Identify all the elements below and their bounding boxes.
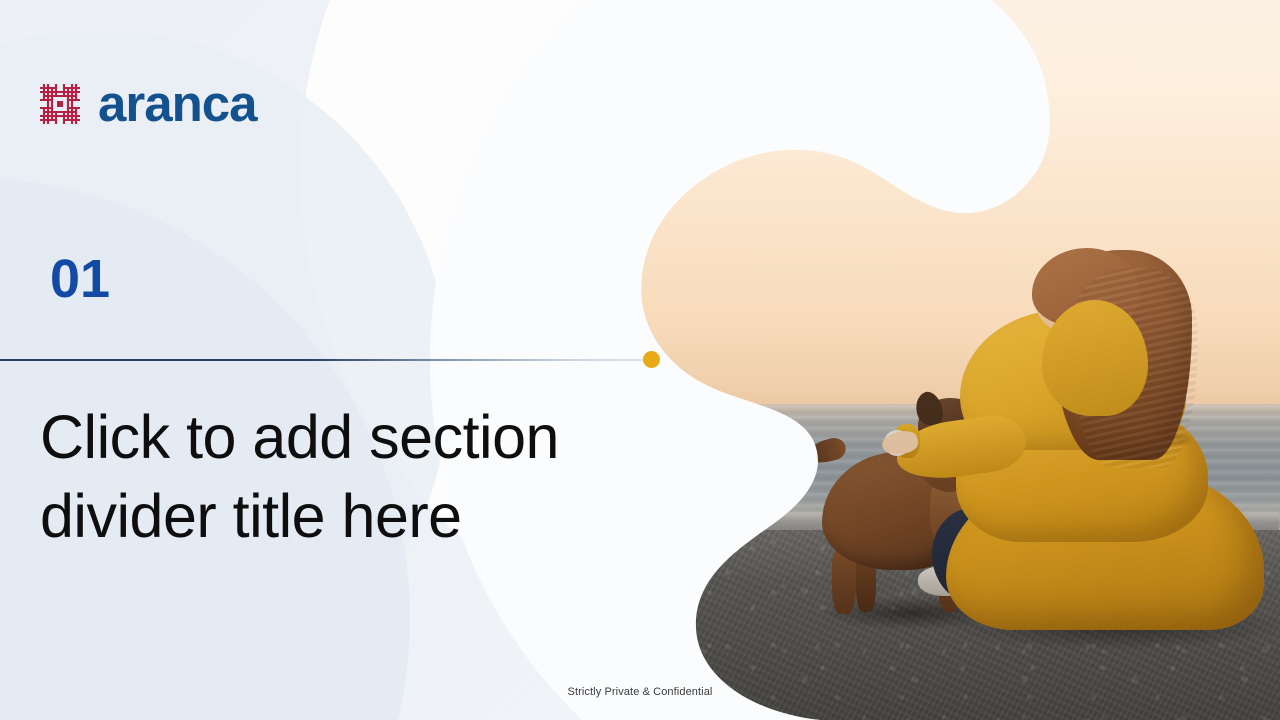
aranca-logo[interactable]: aranca — [36, 78, 256, 129]
gold-accent-dot — [643, 351, 660, 368]
aranca-wordmark: aranca — [98, 78, 256, 129]
section-title-placeholder[interactable]: Click to add section divider title here — [40, 398, 640, 556]
hero-photo-panel — [600, 0, 1280, 720]
section-divider-rule — [0, 359, 643, 361]
section-number: 01 — [50, 252, 110, 306]
aranca-woven-square-mark-icon — [36, 80, 84, 128]
confidentiality-footer: Strictly Private & Confidential — [0, 686, 1280, 698]
hero-photo — [600, 0, 1280, 720]
hero-photo-organic-mask — [600, 0, 1280, 720]
section-divider-slide: aranca 01 Click to add section divider t… — [0, 0, 1280, 720]
